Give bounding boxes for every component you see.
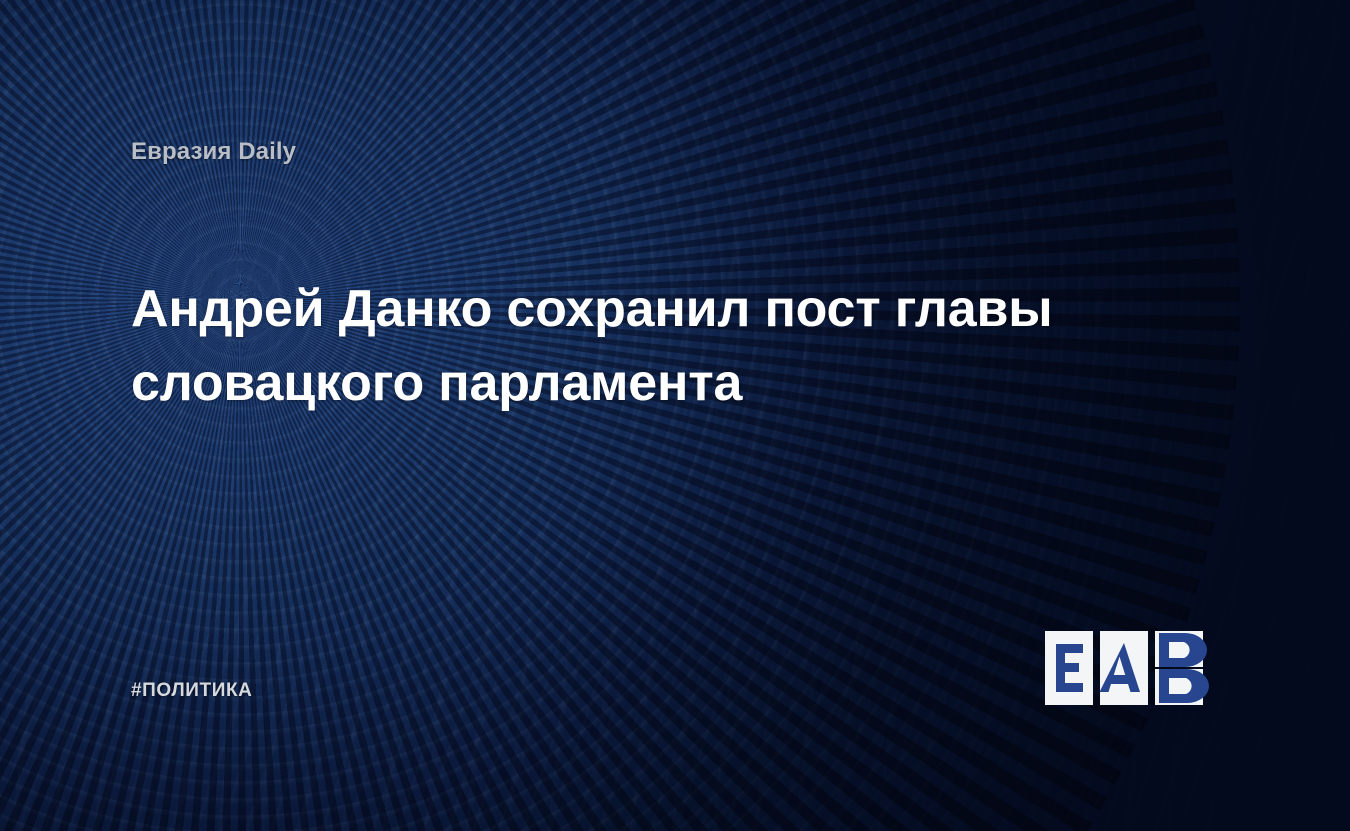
ead-logo — [1045, 631, 1221, 705]
card-content: Евразия Daily Андрей Данко сохранил пост… — [0, 0, 1350, 831]
news-share-card: Евразия Daily Андрей Данко сохранил пост… — [0, 0, 1350, 831]
ead-logo-icon — [1045, 631, 1221, 705]
article-headline: Андрей Данко сохранил пост главы словацк… — [131, 272, 1141, 420]
brand-name: Евразия Daily — [131, 138, 296, 166]
category-tag[interactable]: #ПОЛИТИКА — [131, 680, 253, 702]
